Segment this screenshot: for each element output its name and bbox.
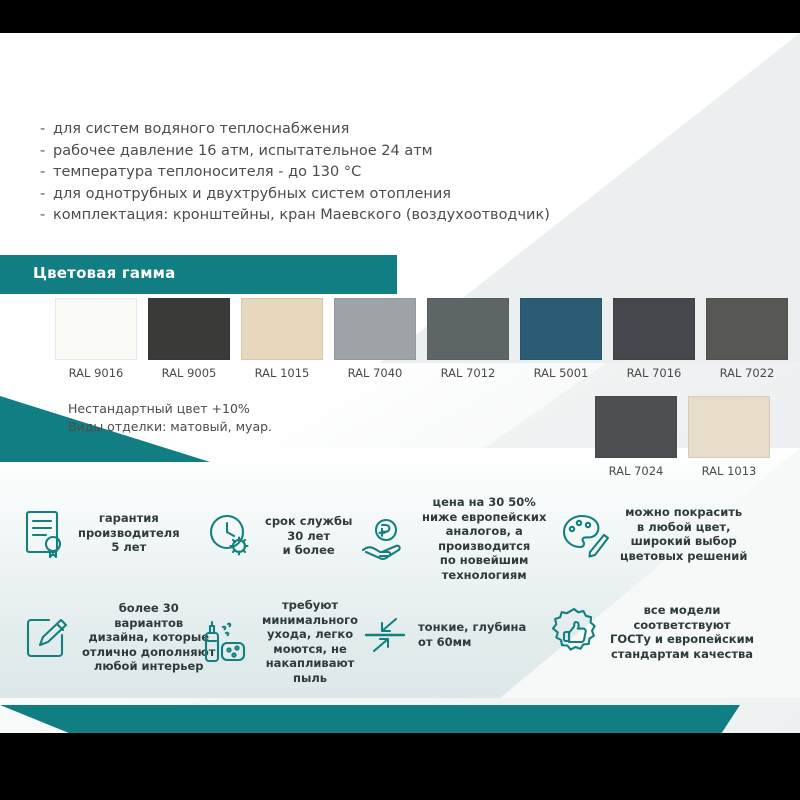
note-line-1: Нестандартный цвет +10% — [68, 400, 272, 418]
feature-text-line: ниже европейских — [422, 510, 546, 525]
spec-bullet-text: рабочее давление 16 атм, испытательное 2… — [53, 143, 433, 159]
feature-text-line: цена на 30 50% — [422, 495, 546, 510]
color-swatch-chip — [595, 396, 677, 458]
spec-bullet-text: температура теплоносителя - до 130 °C — [53, 164, 361, 180]
certificate-icon — [22, 508, 68, 558]
color-swatch-chip — [706, 298, 788, 360]
feature-text-line: 5 лет — [78, 540, 180, 555]
feature-text-line: гарантия — [78, 511, 180, 526]
spec-bullet-text: для однотрубных и двухтрубных систем ото… — [53, 186, 451, 202]
feature-text: гарантияпроизводителя5 лет — [78, 511, 180, 555]
feature-text-line: производителя — [78, 526, 180, 541]
feature-text: более 30вариантовдизайна, которыеотлично… — [82, 601, 215, 674]
spec-bullet-item: -комплектация: кронштейны, кран Маевског… — [40, 205, 620, 227]
feature-text: тонкие, глубинаот 60мм — [418, 620, 526, 649]
feature-text-line: широкий выбор — [620, 534, 747, 549]
color-swatch[interactable]: RAL 7024 — [595, 396, 677, 478]
specs-bullet-list: -для систем водяного теплоснабжения-рабо… — [40, 119, 620, 227]
feature-text-line: ГОСТу и европейским — [610, 632, 754, 647]
feature-text-line: технологиям — [422, 568, 546, 583]
feature-text-line: тонкие, глубина — [418, 620, 526, 635]
spec-bullet-item: -рабочее давление 16 атм, испытательное … — [40, 141, 620, 163]
thumbs-up-badge-icon — [548, 606, 600, 658]
feature-text: можно покраситьв любой цвет,широкий выбо… — [620, 505, 747, 563]
color-swatch-label: RAL 1015 — [241, 366, 323, 380]
feature-price: цена на 30 50%ниже европейскиханалогов, … — [360, 495, 546, 583]
feature-text-line: моются, не — [262, 642, 358, 657]
clock-gear-icon — [205, 511, 255, 561]
feature-text-line: в любой цвет, — [620, 520, 747, 535]
feature-text-line: аналогов, а — [422, 524, 546, 539]
feature-text-line: от 60мм — [418, 635, 526, 650]
color-swatch[interactable]: RAL 7016 — [613, 298, 695, 380]
bullet-dash: - — [40, 162, 53, 184]
feature-text-line: стандартам качества — [610, 647, 754, 662]
feature-text-line: вариантов — [82, 616, 215, 631]
color-swatch-label: RAL 9016 — [55, 366, 137, 380]
feature-text-line: любой интерьер — [82, 659, 215, 674]
feature-maintenance: требуютминимальногоухода, легкомоются, н… — [200, 598, 358, 686]
bullet-dash: - — [40, 119, 53, 141]
color-swatch-label: RAL 5001 — [520, 366, 602, 380]
bullet-dash: - — [40, 184, 53, 206]
feature-text-line: пыль — [262, 671, 358, 686]
color-swatch[interactable]: RAL 7040 — [334, 298, 416, 380]
feature-text-line: и более — [265, 543, 352, 558]
bullet-dash: - — [40, 205, 53, 227]
color-swatch[interactable]: RAL 1015 — [241, 298, 323, 380]
feature-text: все моделисоответствуютГОСТу и европейск… — [610, 603, 754, 661]
color-swatch-label: RAL 1013 — [688, 464, 770, 478]
color-swatch-chip — [427, 298, 509, 360]
color-swatch-label: RAL 7040 — [334, 366, 416, 380]
pencil-design-icon — [22, 613, 72, 661]
color-swatch[interactable]: RAL 7012 — [427, 298, 509, 380]
feature-text-line: дизайна, которые — [82, 630, 215, 645]
spec-bullet-item: -для однотрубных и двухтрубных систем от… — [40, 184, 620, 206]
feature-text-line: отлично дополняют — [82, 645, 215, 660]
feature-depth: тонкие, глубинаот 60мм — [362, 613, 526, 657]
color-range-heading-bar: Цветовая гамма — [0, 255, 397, 294]
spec-bullet-item: -температура теплоносителя - до 130 °C — [40, 162, 620, 184]
feature-text-line: цветовых решений — [620, 549, 747, 564]
color-swatch-chip — [520, 298, 602, 360]
color-swatch-chip — [334, 298, 416, 360]
decorative-teal-band-bottom — [0, 705, 800, 733]
note-line-2: Виды отделки: матовый, муар. — [68, 418, 272, 436]
color-swatch-chip — [688, 396, 770, 458]
spec-bullet-item: -для систем водяного теплоснабжения — [40, 119, 620, 141]
hand-ruble-icon — [360, 516, 412, 562]
color-swatch-chip — [148, 298, 230, 360]
color-swatch[interactable]: RAL 9005 — [148, 298, 230, 380]
feature-text-line: можно покрасить — [620, 505, 747, 520]
feature-paintable: можно покраситьв любой цвет,широкий выбо… — [560, 505, 747, 563]
feature-text: срок службы30 лети более — [265, 514, 352, 558]
feature-text-line: ухода, легко — [262, 627, 358, 642]
slide-canvas: -для систем водяного теплоснабжения-рабо… — [0, 33, 800, 733]
feature-text-line: производится — [422, 539, 546, 554]
spec-bullet-text: комплектация: кронштейны, кран Маевского… — [53, 207, 550, 223]
spec-bullet-text: для систем водяного теплоснабжения — [53, 121, 349, 137]
feature-text-line: соответствуют — [610, 618, 754, 633]
color-swatch-label: RAL 7024 — [595, 464, 677, 478]
feature-text-line: по новейшим — [422, 553, 546, 568]
bullet-dash: - — [40, 141, 53, 163]
color-swatch-chip — [55, 298, 137, 360]
feature-text-line: минимального — [262, 613, 358, 628]
feature-text: требуютминимальногоухода, легкомоются, н… — [262, 598, 358, 686]
feature-text-line: 30 лет — [265, 529, 352, 544]
feature-warranty: гарантияпроизводителя5 лет — [22, 508, 180, 558]
color-notes: Нестандартный цвет +10% Виды отделки: ма… — [68, 400, 272, 436]
color-swatch-label: RAL 9005 — [148, 366, 230, 380]
color-swatch[interactable]: RAL 5001 — [520, 298, 602, 380]
feature-service-life: срок службы30 лети более — [205, 511, 352, 561]
compress-arrows-icon — [362, 613, 408, 657]
feature-designs: более 30вариантовдизайна, которыеотлично… — [22, 601, 215, 674]
color-range-heading-label: Цветовая гамма — [33, 264, 175, 282]
color-swatch-chip — [613, 298, 695, 360]
color-swatch[interactable]: RAL 9016 — [55, 298, 137, 380]
color-swatch-label: RAL 7012 — [427, 366, 509, 380]
color-swatch-chip — [241, 298, 323, 360]
spray-sponge-icon — [200, 617, 252, 667]
slide-stage: -для систем водяного теплоснабжения-рабо… — [0, 0, 800, 800]
feature-standards: все моделисоответствуютГОСТу и европейск… — [548, 603, 754, 661]
feature-text-line: все модели — [610, 603, 754, 618]
color-swatch[interactable]: RAL 7022 — [706, 298, 788, 380]
feature-text: цена на 30 50%ниже европейскиханалогов, … — [422, 495, 546, 583]
feature-text-line: накапливают — [262, 656, 358, 671]
feature-text-line: требуют — [262, 598, 358, 613]
feature-text-line: более 30 — [82, 601, 215, 616]
palette-icon — [560, 510, 610, 558]
color-swatch-label: RAL 7016 — [613, 366, 695, 380]
color-swatch-label: RAL 7022 — [706, 366, 788, 380]
feature-text-line: срок службы — [265, 514, 352, 529]
color-swatch[interactable]: RAL 1013 — [688, 396, 770, 478]
